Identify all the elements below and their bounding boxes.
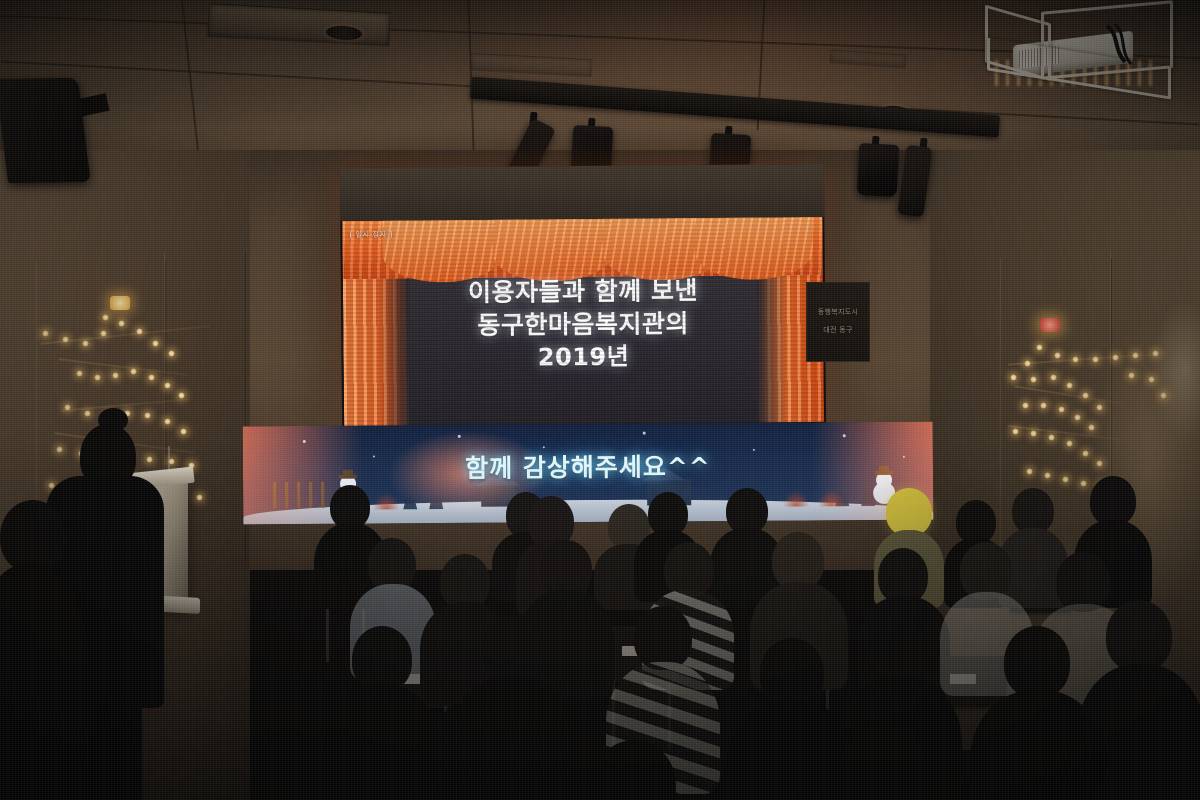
slide-title-line3: 2019년 [343, 340, 823, 376]
seated-audience [0, 430, 1200, 800]
auditorium-photo: [ 일시 정지 ] 이용자들과 함께 보낸 동구한마음복지관의 2019년 동행… [0, 0, 1200, 800]
curtain-swag [382, 220, 503, 283]
curtain-swag [694, 217, 813, 280]
ceiling-projector [985, 8, 1170, 88]
wall-speaker [0, 78, 91, 184]
chair-leg [326, 602, 329, 662]
city-slogan-banner: 동행복지도시 대전 동구 [806, 282, 870, 362]
pause-indicator: [ 일시 정지 ] [349, 230, 392, 240]
tree-topper-ornament [1040, 318, 1060, 332]
slide-content: [ 일시 정지 ] 이용자들과 함께 보낸 동구한마음복지관의 2019년 [342, 217, 824, 426]
slide-title-line2: 동구한마음복지관의 [343, 306, 823, 343]
curtain-swag [492, 219, 613, 282]
projection-screen: [ 일시 정지 ] 이용자들과 함께 보낸 동구한마음복지관의 2019년 [340, 164, 826, 428]
spotlight [857, 143, 900, 197]
tree-topper-star [110, 296, 130, 310]
banner-line-1: 동행복지도시 [807, 307, 869, 317]
screen-top-border [340, 164, 824, 221]
slide-title: 이용자들과 함께 보낸 동구한마음복지관의 2019년 [343, 273, 824, 376]
banner-line-2: 대전 동구 [807, 325, 869, 335]
light-string [1008, 352, 1168, 365]
slide-title-line1: 이용자들과 함께 보낸 [343, 273, 823, 310]
